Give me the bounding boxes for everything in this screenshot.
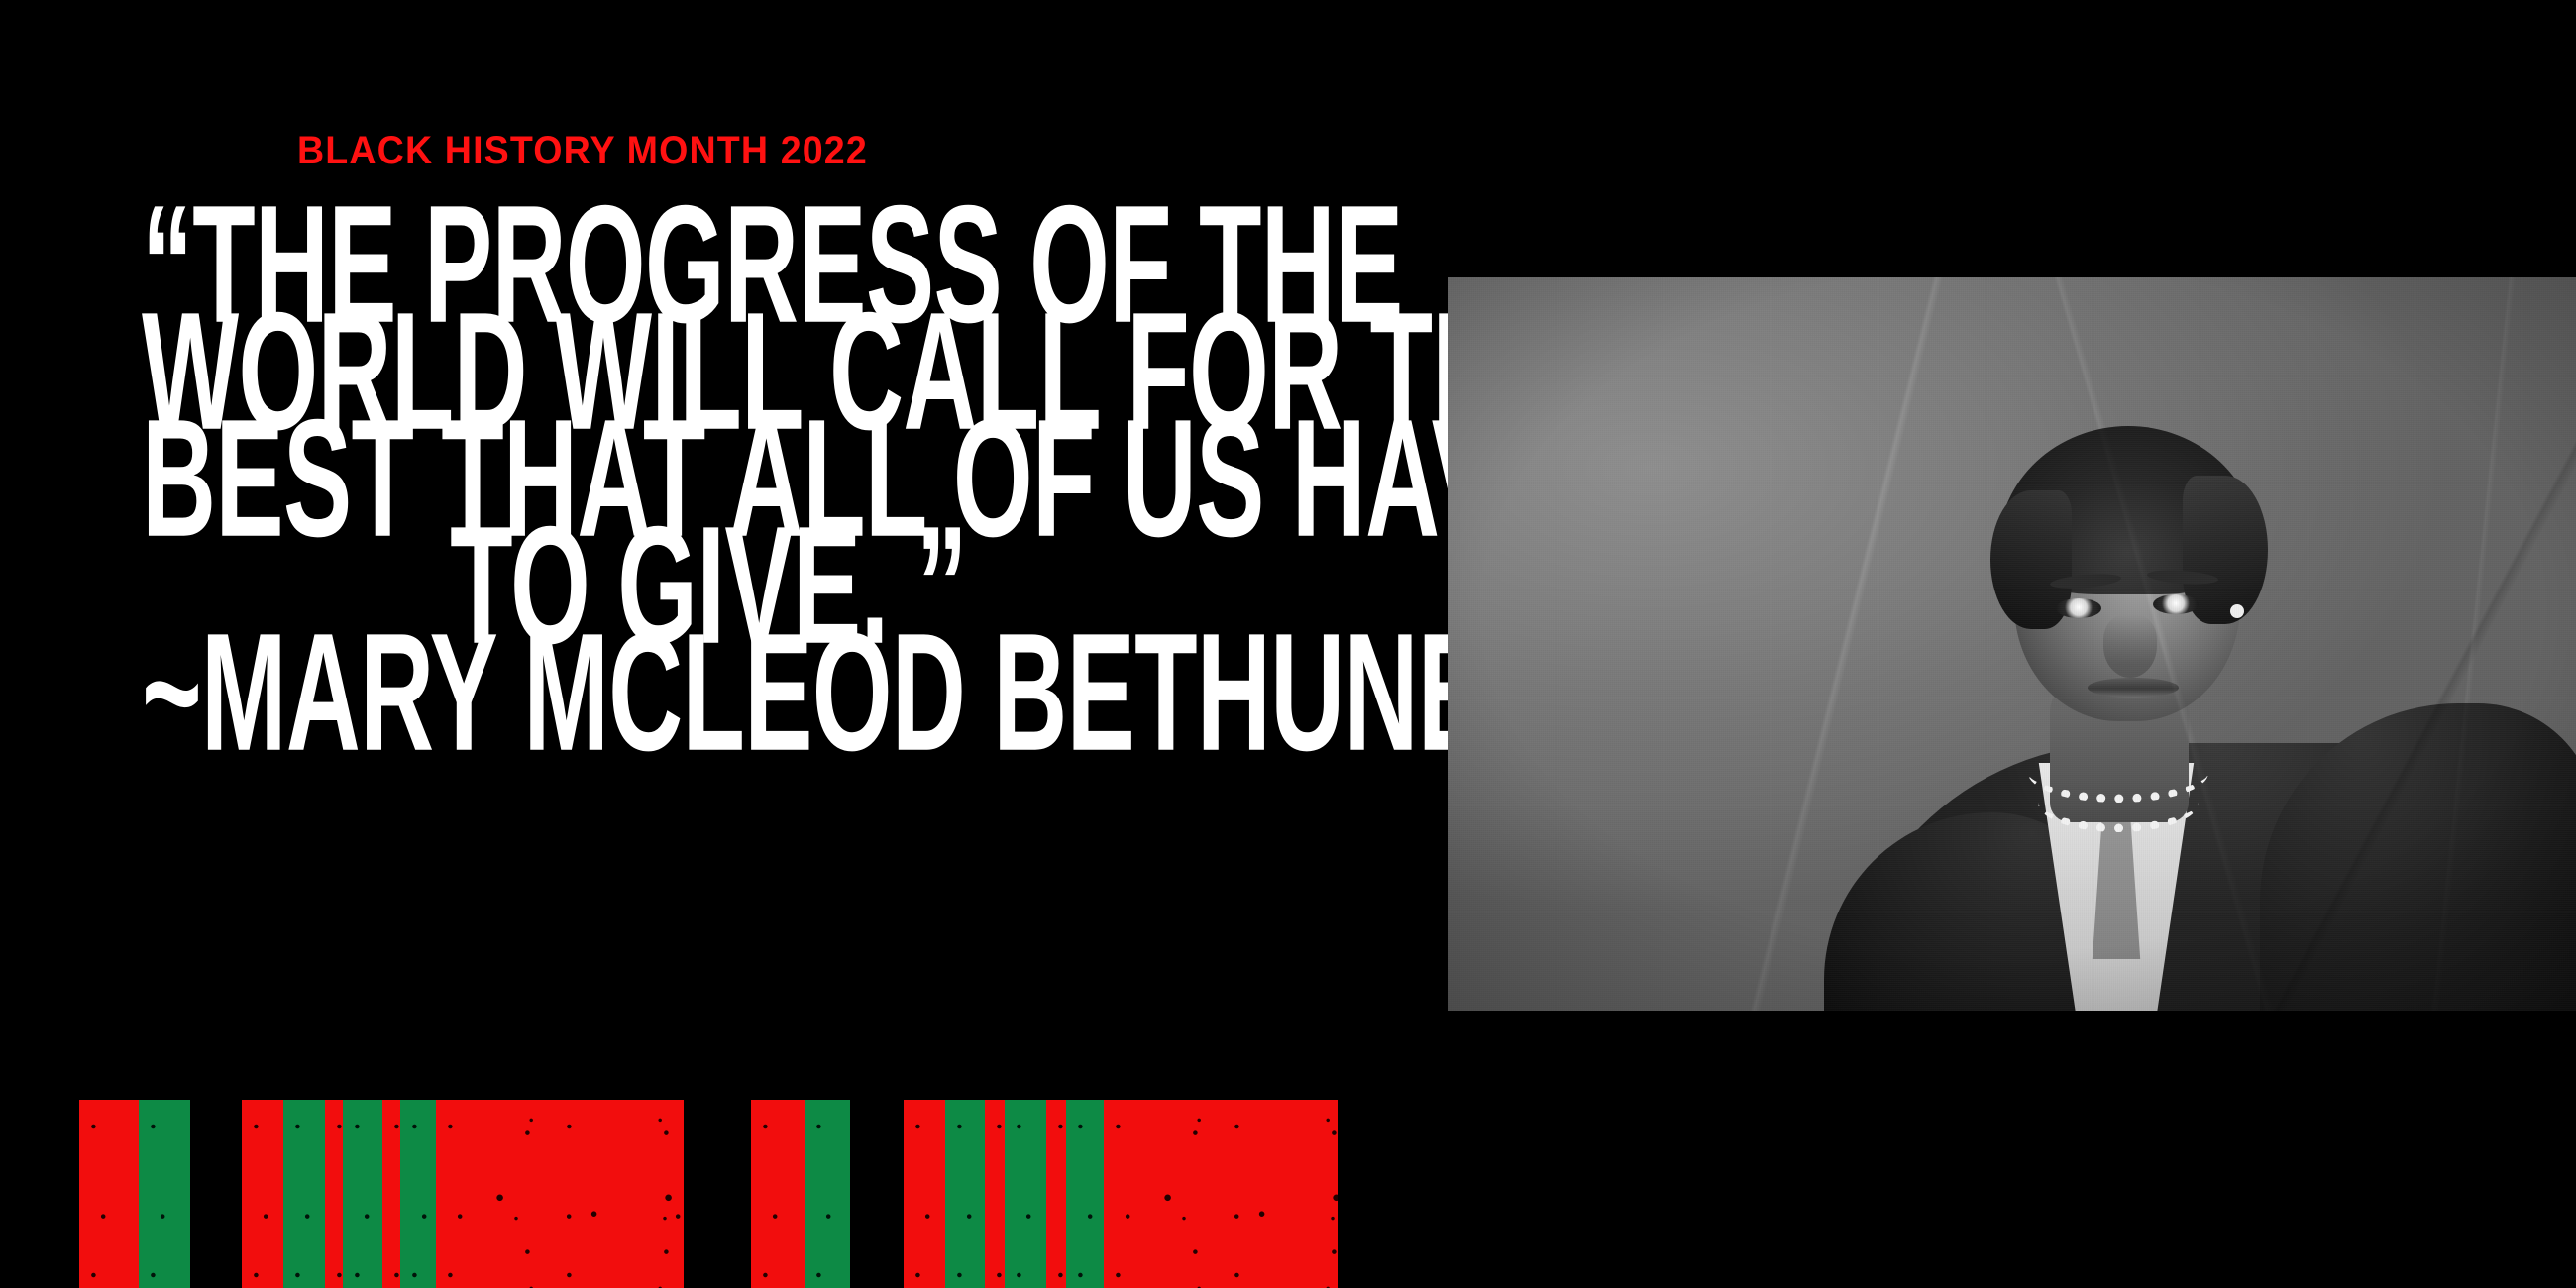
text-column: BLACK HISTORY MONTH 2022 “THE PROGRESS O… bbox=[0, 0, 1427, 1050]
stripe-gap-between-groups bbox=[684, 1100, 751, 1288]
quote-block: “THE PROGRESS OF THE WORLD WILL CALL FOR… bbox=[0, 194, 1417, 729]
stripe-green bbox=[1005, 1100, 1046, 1288]
stripe-green bbox=[945, 1100, 985, 1288]
stripe-red bbox=[325, 1100, 343, 1288]
quote-attribution: ~MARY MCLEOD BETHUNE bbox=[142, 622, 1275, 761]
eyebrow-heading: BLACK HISTORY MONTH 2022 bbox=[297, 129, 868, 173]
stripe-green bbox=[805, 1100, 850, 1288]
stripe-gap bbox=[684, 1100, 751, 1288]
stripe-red bbox=[985, 1100, 1005, 1288]
stripe-green bbox=[1066, 1100, 1104, 1288]
portrait-photo bbox=[1448, 277, 2576, 1011]
stripe-red bbox=[382, 1100, 400, 1288]
stripe-group-1 bbox=[79, 1100, 684, 1288]
stripe-gap bbox=[850, 1100, 904, 1288]
stripe-green bbox=[343, 1100, 382, 1288]
stripe-red bbox=[904, 1100, 945, 1288]
stripe-red bbox=[436, 1100, 684, 1288]
stripe-green bbox=[139, 1100, 190, 1288]
black-history-month-quote-poster: BLACK HISTORY MONTH 2022 “THE PROGRESS O… bbox=[0, 0, 2576, 1288]
stripe-green bbox=[283, 1100, 325, 1288]
decorative-stripe-band bbox=[79, 1100, 1427, 1288]
stripe-red bbox=[1046, 1100, 1066, 1288]
stripe-green bbox=[400, 1100, 436, 1288]
photo-vignette bbox=[1448, 277, 2576, 1011]
stripe-group-2 bbox=[751, 1100, 1338, 1288]
stripe-gap bbox=[190, 1100, 242, 1288]
stripe-red bbox=[242, 1100, 283, 1288]
stripe-red bbox=[79, 1100, 139, 1288]
stripe-red bbox=[1104, 1100, 1338, 1288]
stripe-red bbox=[751, 1100, 805, 1288]
